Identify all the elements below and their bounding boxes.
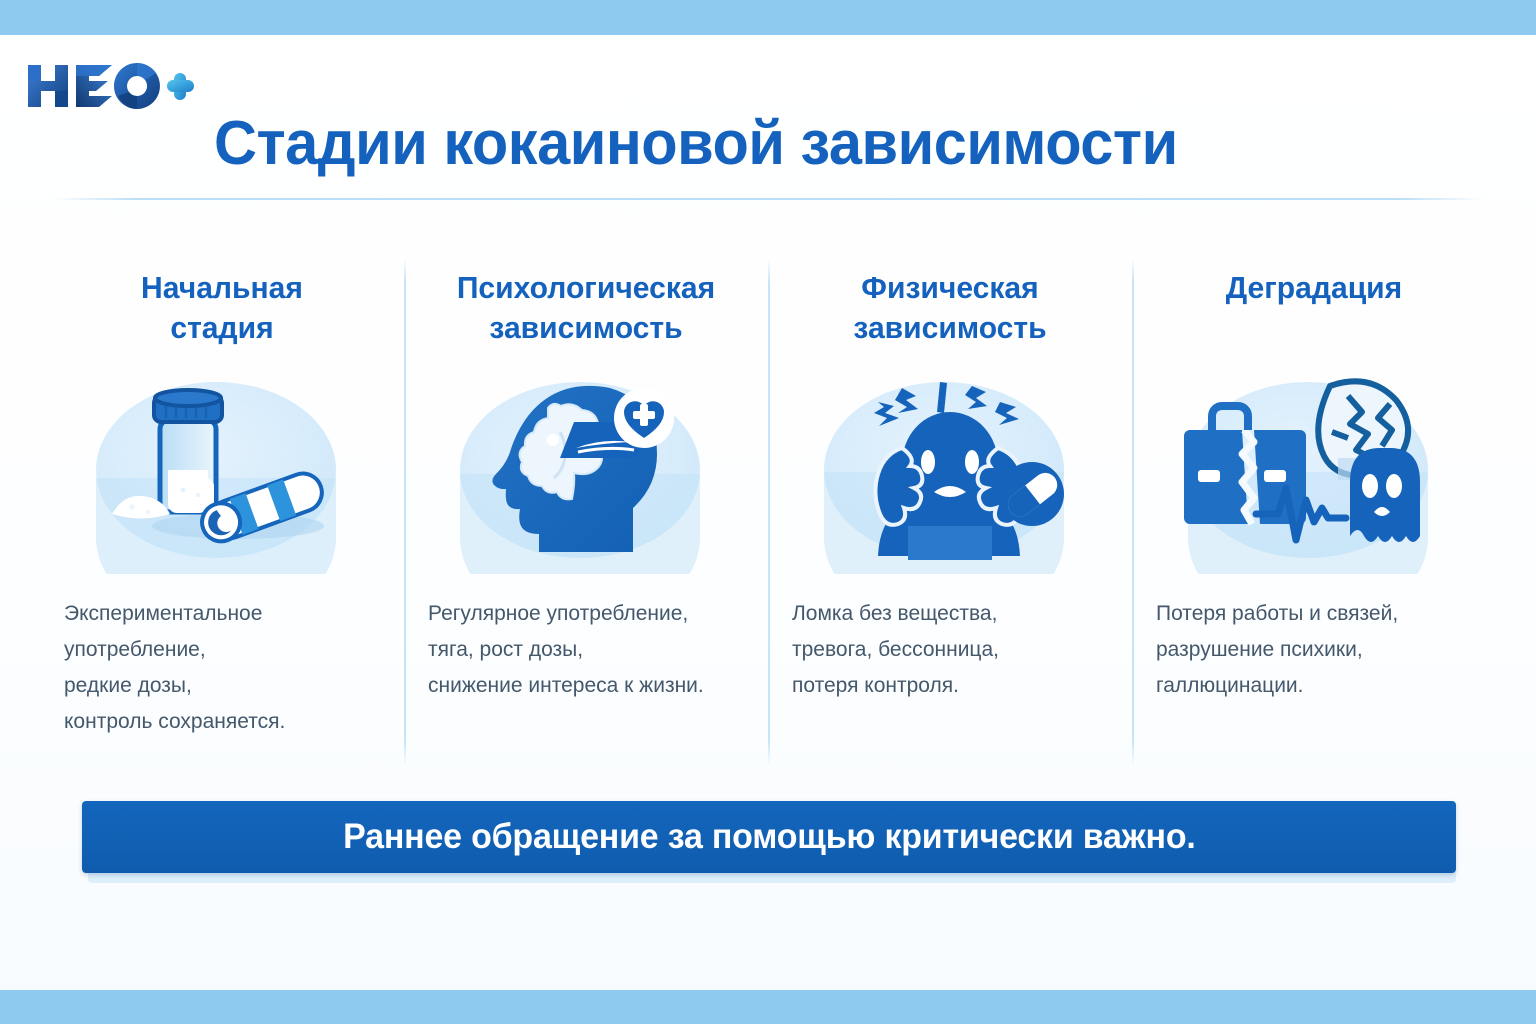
infographic-page: Стадии кокаиновой зависимости Начальная … [0, 0, 1536, 1024]
desc-line: Потеря работы и связей, [1156, 596, 1476, 632]
broken-briefcase-cracked-brain-ghost-icon [1180, 366, 1448, 574]
stage-column-psychological: Психологическая зависимость [404, 250, 768, 775]
stage-description: Потеря работы и связей, разрушение психи… [1138, 596, 1490, 704]
call-to-action-banner: Раннее обращение за помощью критически в… [82, 801, 1456, 873]
stage-title: Начальная стадия [51, 250, 392, 354]
stage-title-line1: Начальная [141, 270, 303, 305]
stage-description: Регулярное употребление, тяга, рост дозы… [410, 596, 762, 704]
desc-line: тревога, бессонница, [792, 632, 1112, 668]
desc-line: редкие дозы, [64, 668, 384, 704]
stage-description: Экспериментальное употребление, редкие д… [46, 596, 398, 740]
stage-title-line1: Деградация [1226, 270, 1402, 305]
call-to-action-banner-wrapper: Раннее обращение за помощью критически в… [82, 801, 1456, 873]
desc-line: Экспериментальное [64, 596, 384, 632]
stage-title: Деградация [1143, 250, 1484, 354]
stage-title: Психологическая зависимость [415, 250, 756, 354]
desc-line: тяга, рост дозы, [428, 632, 748, 668]
stage-title-line1: Физическая [861, 270, 1038, 305]
stage-column-initial: Начальная стадия [40, 250, 404, 775]
stage-title-line2: стадия [170, 310, 273, 345]
stage-column-physical: Физическая зависимость [768, 250, 1132, 775]
desc-line: контроль сохраняется. [64, 704, 384, 740]
desc-line: разрушение психики, [1156, 632, 1476, 668]
stage-title: Физическая зависимость [779, 250, 1120, 354]
page-title: Стадии кокаиновой зависимости [214, 113, 1178, 175]
desc-line: снижение интереса к жизни. [428, 668, 748, 704]
bottom-accent-band [0, 990, 1536, 1024]
header-divider [52, 198, 1484, 200]
desc-line: употребление, [64, 632, 384, 668]
desc-line: потеря контроля. [792, 668, 1112, 704]
powder-jar-and-rolled-note-icon [88, 366, 356, 574]
head-brain-heart-plus-icon [452, 366, 720, 574]
stage-title-line2: зависимость [489, 310, 682, 345]
neo-plus-logo [24, 55, 199, 117]
desc-line: Регулярное употребление, [428, 596, 748, 632]
top-accent-band [0, 0, 1536, 35]
stage-column-degradation: Деградация [1132, 250, 1496, 775]
desc-line: галлюцинации. [1156, 668, 1476, 704]
header: Стадии кокаиновой зависимости [0, 35, 1536, 200]
stages-row: Начальная стадия [40, 250, 1496, 775]
headache-person-with-pill-icon [816, 366, 1084, 574]
banner-text: Раннее обращение за помощью критически в… [343, 817, 1195, 857]
stage-title-line1: Психологическая [457, 270, 715, 305]
desc-line: Ломка без вещества, [792, 596, 1112, 632]
stage-description: Ломка без вещества, тревога, бессонница,… [774, 596, 1126, 704]
stage-title-line2: зависимость [853, 310, 1046, 345]
